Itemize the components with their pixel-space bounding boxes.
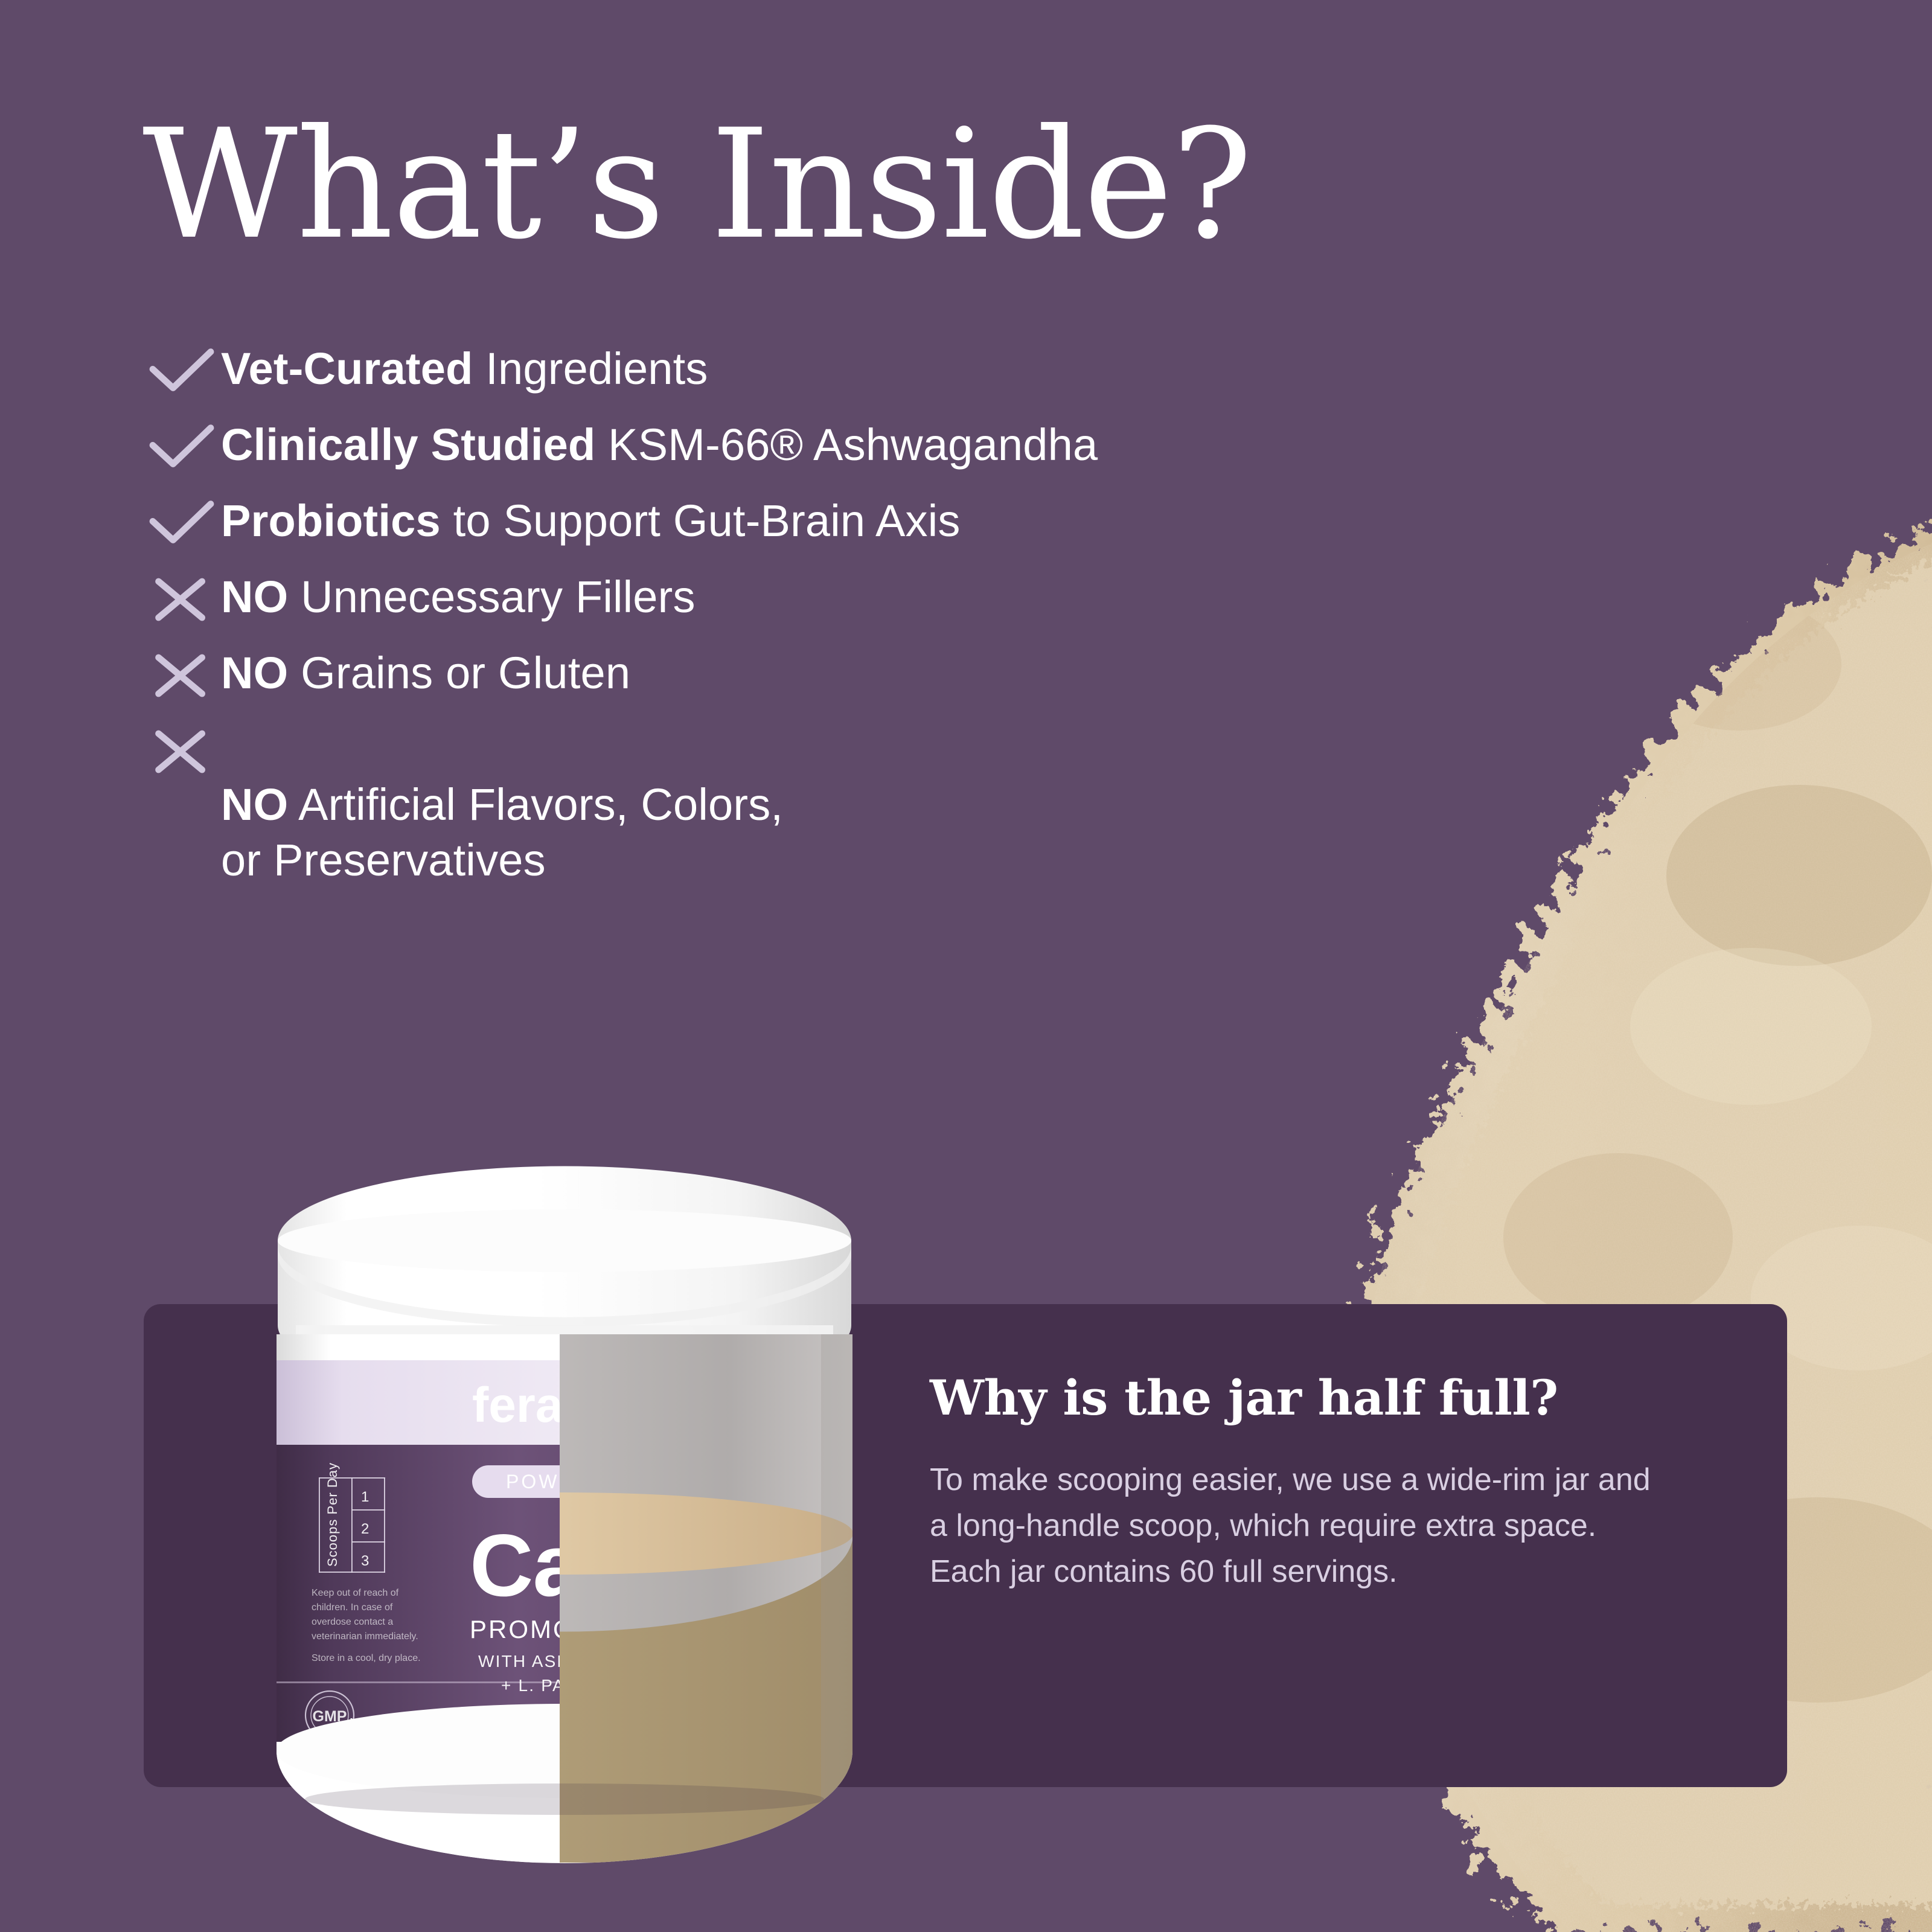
cross-icon [142, 650, 221, 701]
list-item-text: NO Artificial Flavors, Colors, or Preser… [221, 721, 783, 888]
list-item-emphasis: NO [221, 572, 288, 622]
list-item-emphasis: Vet-Curated [221, 344, 473, 394]
info-card-content: Why is the jar half full? To make scoopi… [930, 1369, 1666, 1595]
list-item: NO Unnecessary Fillers [142, 569, 1688, 625]
cross-icon [142, 574, 221, 625]
list-item-text: Vet-Curated Ingredients [221, 341, 708, 397]
list-item: Clinically Studied KSM-66® Ashwagandha [142, 417, 1688, 473]
list-item: Vet-Curated Ingredients [142, 341, 1688, 397]
list-item-rest: to Support Gut-Brain Axis [441, 496, 961, 546]
jar-scoops-label: Scoops Per Day [325, 1462, 340, 1567]
check-icon [142, 498, 221, 549]
list-item-rest: Unnecessary Fillers [288, 572, 695, 622]
benefits-list: Vet-Curated Ingredients Clinically Studi… [142, 341, 1688, 908]
list-item-rest: Grains or Gluten [288, 648, 630, 698]
list-item-text: Clinically Studied KSM-66® Ashwagandha [221, 417, 1098, 473]
list-item-text: NO Grains or Gluten [221, 645, 630, 701]
list-item: NO Artificial Flavors, Colors, or Preser… [142, 721, 1688, 888]
list-item-emphasis: Probiotics [221, 496, 441, 546]
svg-text:overdose contact a: overdose contact a [312, 1617, 393, 1627]
list-item-rest: KSM-66® Ashwagandha [595, 420, 1098, 470]
svg-text:children. In case of: children. In case of [312, 1602, 393, 1613]
svg-text:Keep out of reach of: Keep out of reach of [312, 1588, 399, 1598]
check-icon [142, 422, 221, 473]
product-jar: fera POWDER Calm PROMOTES RELAXATION WIT… [260, 1204, 869, 1863]
check-icon [142, 346, 221, 397]
info-card-body: To make scooping easier, we use a wide-r… [930, 1457, 1666, 1595]
jar-scoops-row-1: 1 [361, 1489, 369, 1505]
jar-scoops-row-2: 2 [361, 1521, 369, 1537]
list-item-text: Probiotics to Support Gut-Brain Axis [221, 493, 961, 549]
svg-text:Store in a cool, dry place.: Store in a cool, dry place. [312, 1653, 421, 1663]
list-item: NO Grains or Gluten [142, 645, 1688, 701]
page-title: What’s Inside? [142, 106, 1252, 264]
list-item-rest: Artificial Flavors, Colors, or Preservat… [221, 779, 783, 885]
list-item-rest: Ingredients [473, 344, 708, 394]
list-item-emphasis: NO [221, 779, 288, 830]
jar-brand-logo: fera [472, 1378, 564, 1433]
list-item-emphasis: Clinically Studied [221, 420, 595, 470]
cross-icon [142, 726, 221, 777]
list-item-emphasis: NO [221, 648, 288, 698]
svg-text:veterinarian immediately.: veterinarian immediately. [312, 1631, 418, 1642]
list-item: Probiotics to Support Gut-Brain Axis [142, 493, 1688, 549]
info-card-title: Why is the jar half full? [930, 1369, 1666, 1426]
jar-scoops-row-3: 3 [361, 1553, 369, 1569]
list-item-text: NO Unnecessary Fillers [221, 569, 696, 625]
